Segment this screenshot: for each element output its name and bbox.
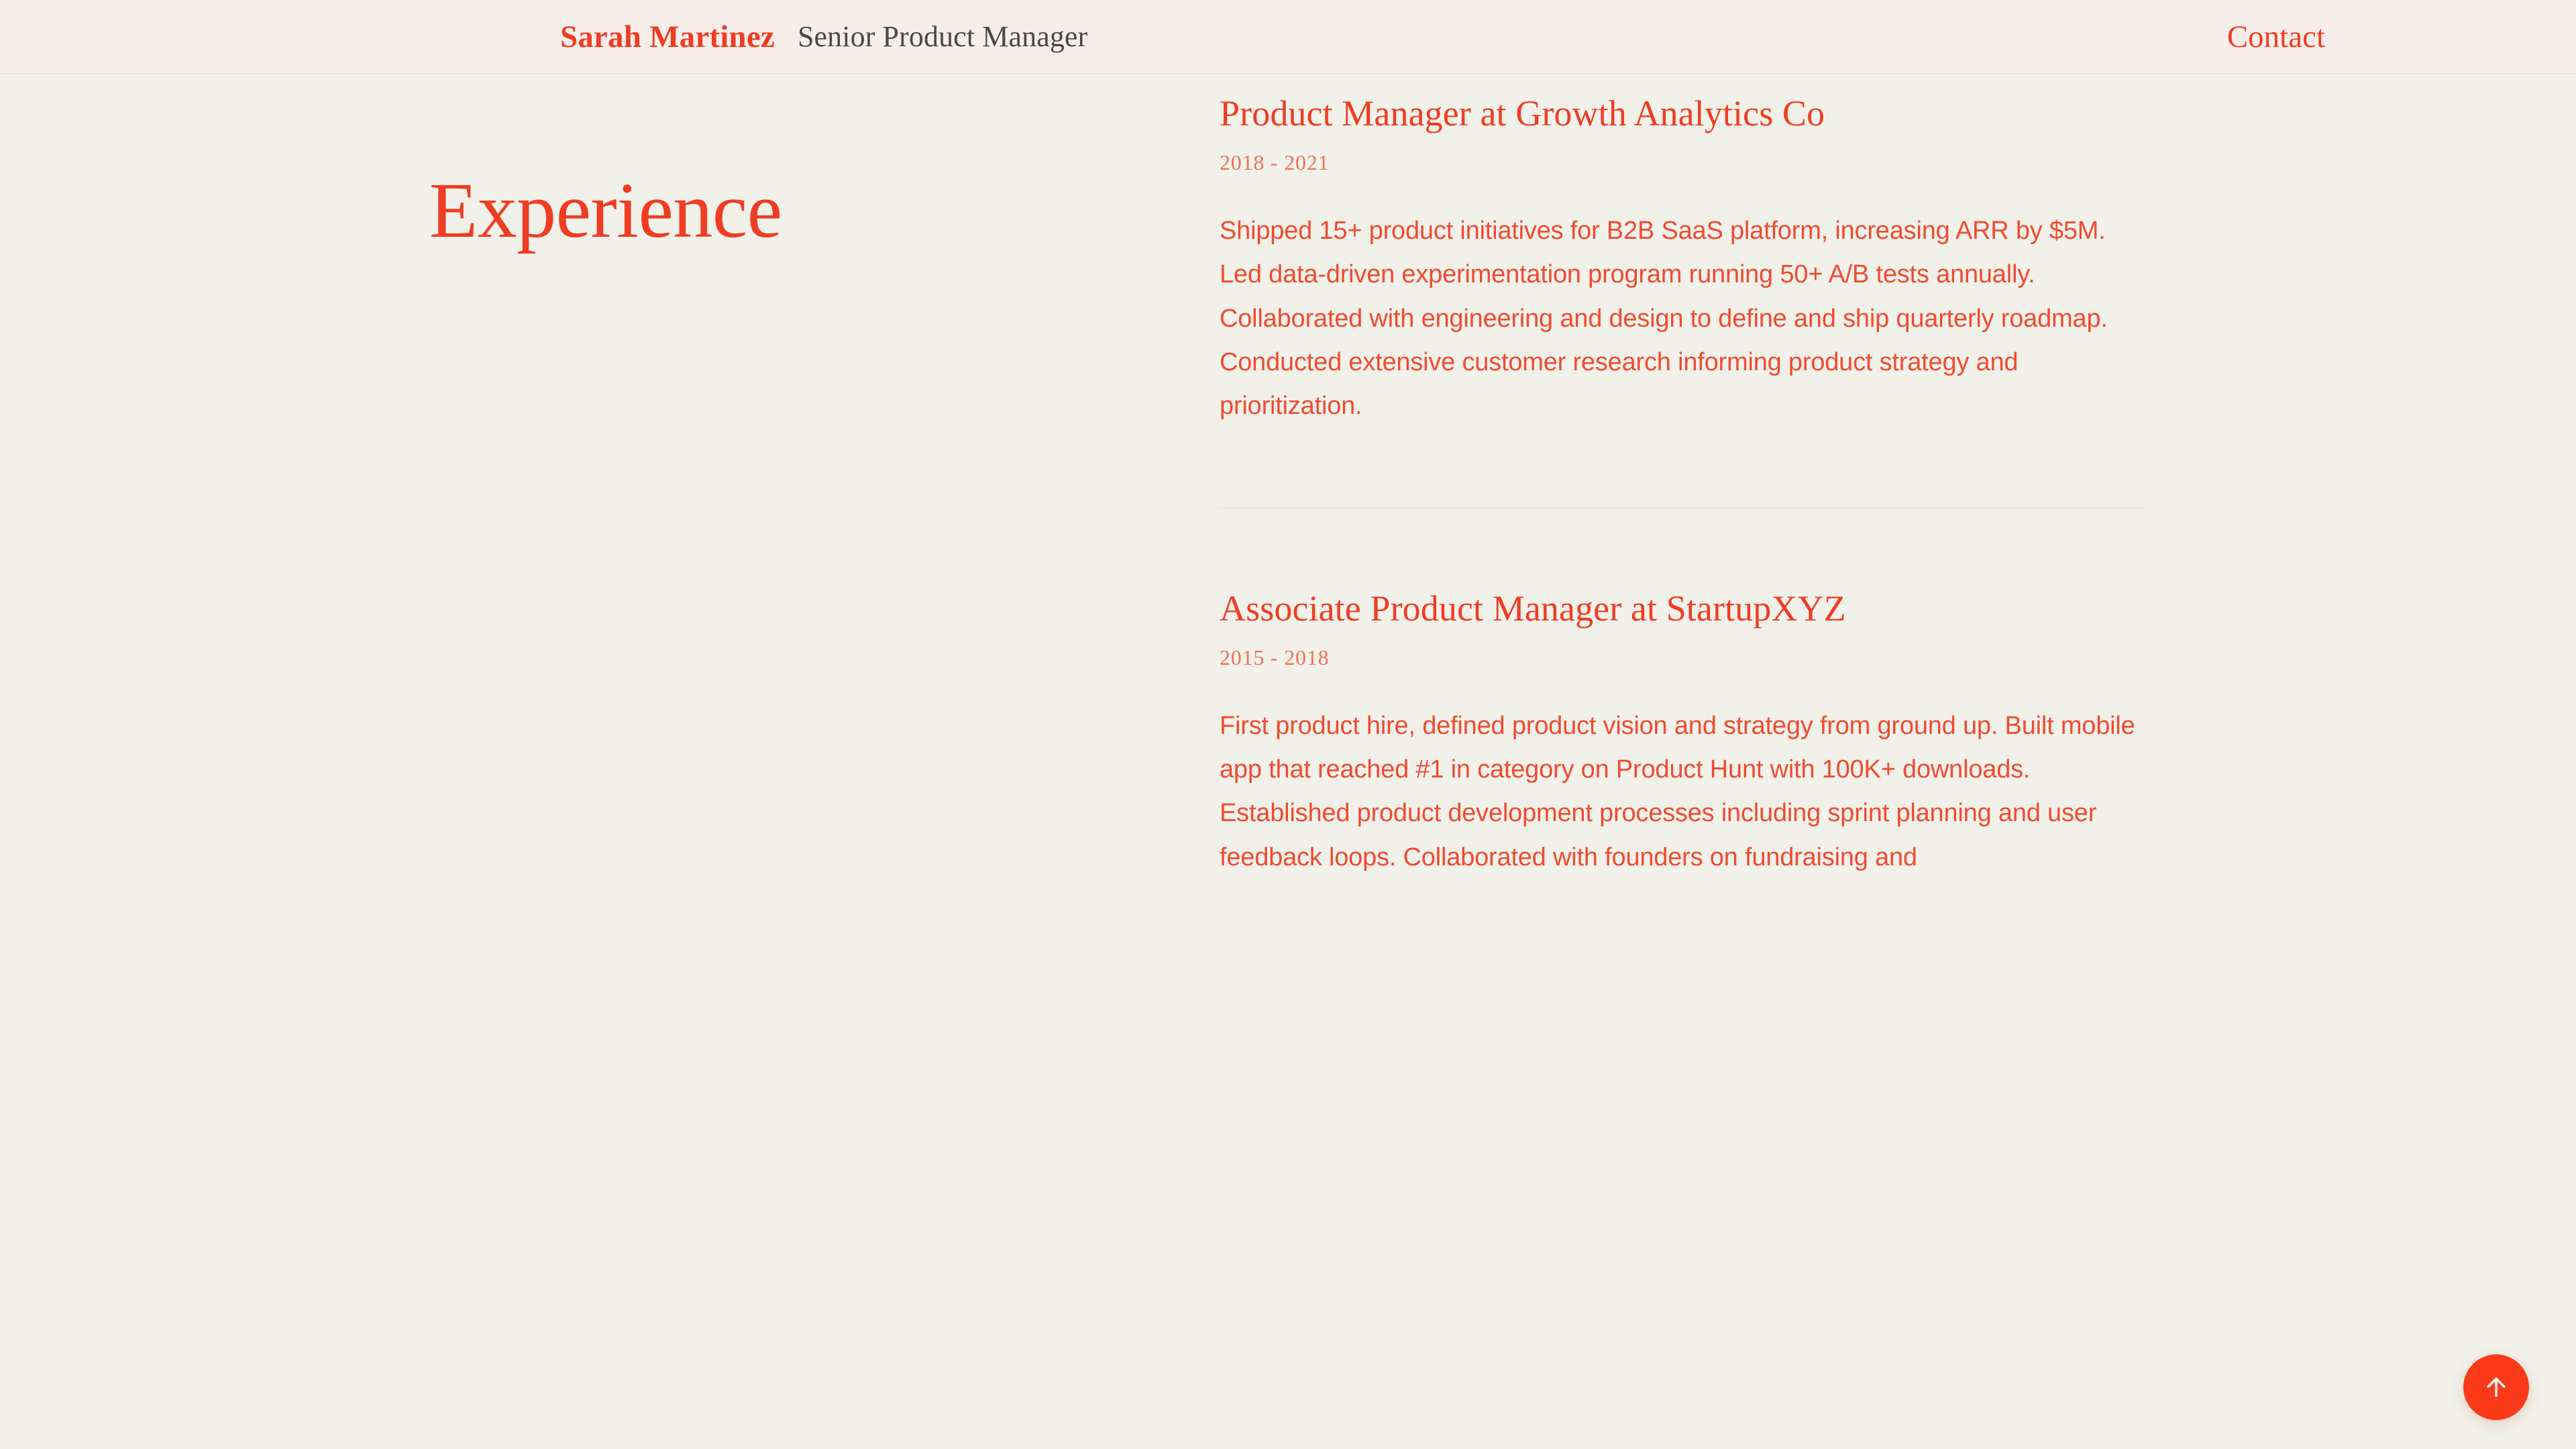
experience-entry: Associate Product Manager at StartupXYZ … xyxy=(1220,588,2147,880)
entry-divider xyxy=(1220,508,2147,508)
spacer xyxy=(1220,879,2147,955)
experience-entries-list: engineers, designers, and analysts. Defi… xyxy=(1220,0,2147,955)
nav-link-contact[interactable]: Contact xyxy=(2227,21,2325,53)
entry-title: Associate Product Manager at StartupXYZ xyxy=(1220,588,2147,631)
page-title: Experience xyxy=(429,168,1120,253)
brand-role: Senior Product Manager xyxy=(798,22,1087,52)
entry-description: First product hire, defined product visi… xyxy=(1220,704,2147,879)
header-inner: Sarah Martinez Senior Product Manager Co… xyxy=(0,0,2576,74)
entry-dates: 2018 - 2021 xyxy=(1220,150,2147,175)
section-heading-column: Experience xyxy=(429,168,1120,253)
scroll-to-top-button[interactable] xyxy=(2463,1354,2529,1420)
arrow-up-icon xyxy=(2481,1373,2511,1402)
primary-navigation: Contact xyxy=(2227,0,2325,74)
portfolio-page: Experience engineers, designers, and ana… xyxy=(0,0,2576,1449)
brand-link[interactable]: Sarah Martinez Senior Product Manager xyxy=(560,0,1087,74)
page-content: Experience engineers, designers, and ana… xyxy=(0,0,2576,1449)
experience-entry: Product Manager at Growth Analytics Co 2… xyxy=(1220,93,2147,429)
brand-name: Sarah Martinez xyxy=(560,21,775,53)
entry-dates: 2015 - 2018 xyxy=(1220,645,2147,670)
entry-title: Product Manager at Growth Analytics Co xyxy=(1220,93,2147,136)
entry-description: Shipped 15+ product initiatives for B2B … xyxy=(1220,209,2147,429)
site-header: Sarah Martinez Senior Product Manager Co… xyxy=(0,0,2576,74)
